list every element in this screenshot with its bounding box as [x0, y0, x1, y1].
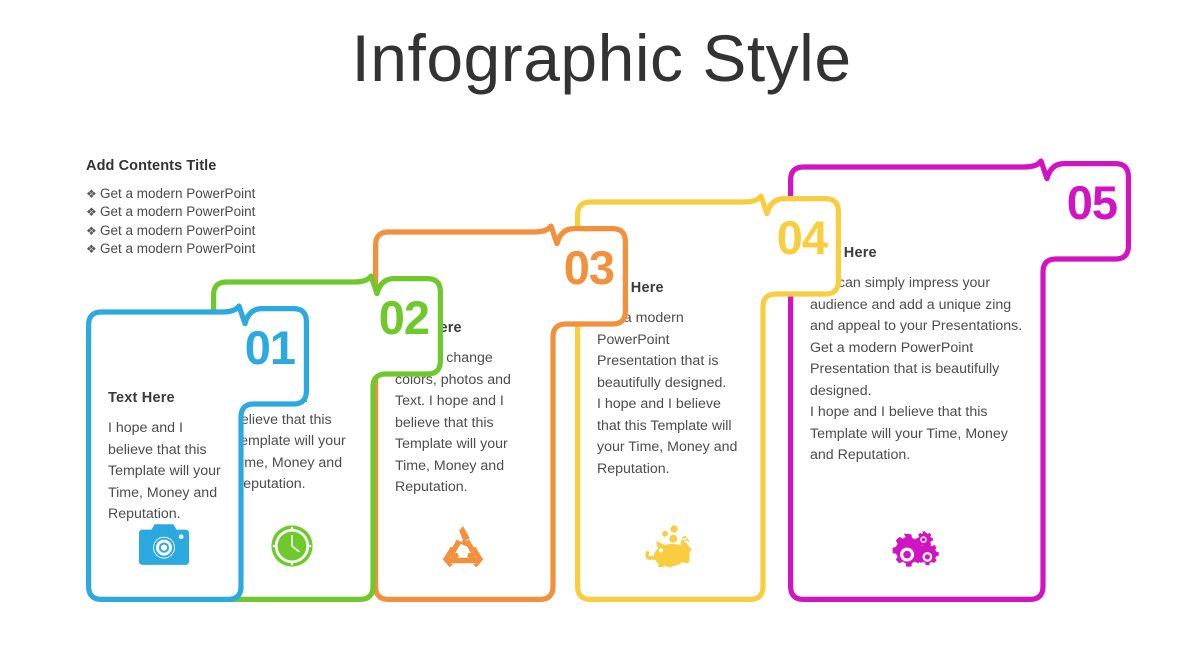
card-number: 02: [379, 294, 429, 341]
card-number: 01: [245, 324, 295, 371]
camera-icon: [86, 524, 241, 570]
infographic-card-row: 01Text HereI hope and I believe that thi…: [0, 0, 1203, 671]
card-body-text: I hope and I believe that this Template …: [108, 418, 223, 526]
card-number: 05: [1067, 179, 1117, 226]
card-number: 04: [777, 214, 827, 261]
card-heading: Text Here: [108, 390, 175, 406]
card-body-text: You can simply impress your audience and…: [810, 273, 1025, 467]
card-number: 03: [564, 244, 614, 291]
infographic-card-01[interactable]: 01Text HereI hope and I believe that thi…: [86, 306, 309, 602]
